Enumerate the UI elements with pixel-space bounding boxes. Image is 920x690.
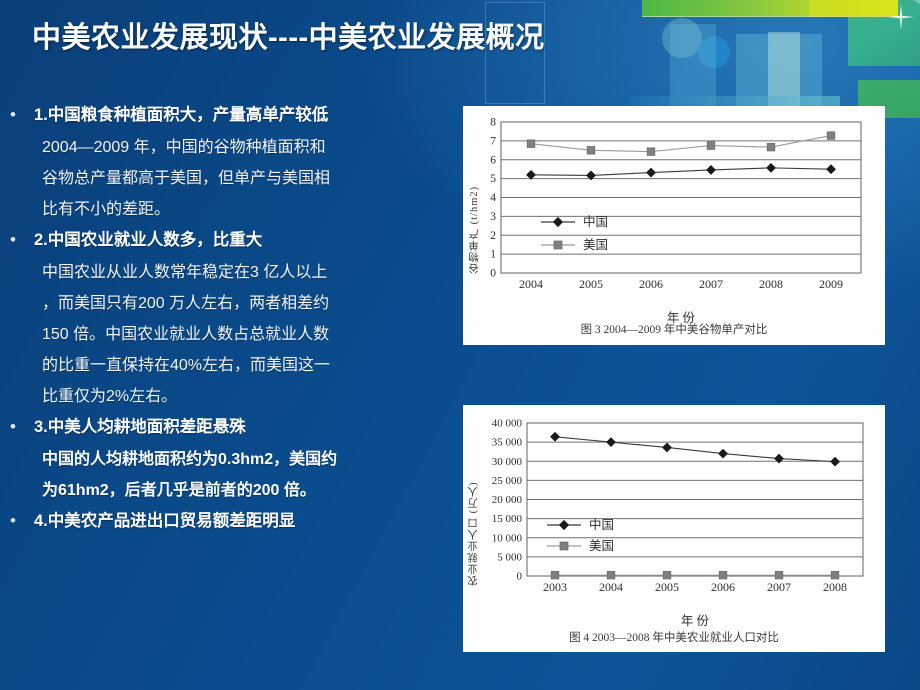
paragraph-line: 中国农业从业人数常年稳定在3 亿人以上 [42, 257, 444, 288]
chart2-caption: 图 4 2003—2008 年中美农业就业人口对比 [463, 629, 885, 645]
svg-text:美国: 美国 [583, 238, 608, 252]
svg-text:1: 1 [490, 249, 496, 261]
bullet-heading: 4.中美农产品进出口贸易额差距明显 [26, 506, 295, 536]
svg-text:2008: 2008 [823, 580, 847, 594]
svg-text:8: 8 [490, 117, 496, 129]
svg-text:2006: 2006 [711, 580, 735, 594]
svg-text:2: 2 [490, 230, 496, 242]
paragraph-line: 谷物总产量都高于美国，但单产与美国相 [42, 163, 444, 194]
bullet-dot-icon: • [0, 100, 26, 130]
bullet-dot-icon: • [0, 225, 26, 255]
paragraph-line: 比重仅为2%左右。 [42, 381, 444, 412]
bullet-heading: 2.中国农业就业人数多，比重大 [26, 225, 262, 255]
bullet-heading: 3.中美人均耕地面积差距悬殊 [26, 412, 246, 442]
bullet-paragraph: 中国农业从业人数常年稳定在3 亿人以上 ，而美国只有200 万人左右，两者相差约… [0, 257, 462, 412]
paragraph-line: 150 倍。中国农业就业人数占总就业人数 [42, 319, 444, 350]
svg-text:2008: 2008 [759, 277, 783, 291]
svg-text:0: 0 [517, 571, 523, 583]
paragraph-line: 比有不小的差距。 [42, 194, 444, 225]
svg-text:25 000: 25 000 [492, 475, 523, 487]
svg-text:0: 0 [490, 268, 496, 280]
bullet-dot-icon: • [0, 506, 26, 536]
svg-text:2007: 2007 [699, 277, 723, 291]
svg-text:40 000: 40 000 [492, 418, 523, 430]
svg-text:美国: 美国 [589, 539, 614, 553]
svg-text:30 000: 30 000 [492, 456, 523, 468]
svg-text:7: 7 [490, 135, 496, 147]
list-item: • 1.中国粮食种植面积大，产量高单产较低 [0, 100, 462, 130]
chart-panel-cereal-yield: 谷物单产 (t/hm2) 012345678200420052006200720… [463, 106, 885, 345]
svg-text:2006: 2006 [639, 277, 663, 291]
svg-text:10 000: 10 000 [492, 532, 523, 544]
slide-header: 中美农业发展现状----中美农业发展概况 [0, 0, 920, 72]
bullet-paragraph: 2004—2009 年，中国的谷物种植面积和 谷物总产量都高于美国，但单产与美国… [0, 132, 462, 225]
bullet-paragraph: 中国的人均耕地面积约为0.3hm2，美国约 为61hm2，后者几乎是前者的200… [0, 444, 462, 506]
list-item: • 2.中国农业就业人数多，比重大 [0, 225, 462, 255]
svg-text:2005: 2005 [655, 580, 679, 594]
paragraph-line: 2004—2009 年，中国的谷物种植面积和 [42, 132, 444, 163]
svg-text:5: 5 [490, 173, 496, 185]
svg-text:3: 3 [490, 211, 496, 223]
svg-text:5 000: 5 000 [497, 551, 522, 563]
list-item: • 4.中美农产品进出口贸易额差距明显 [0, 506, 462, 536]
bullet-content: • 1.中国粮食种植面积大，产量高单产较低 2004—2009 年，中国的谷物种… [0, 100, 462, 670]
svg-text:中国: 中国 [583, 214, 608, 229]
svg-text:中国: 中国 [589, 517, 614, 532]
page-title: 中美农业发展现状----中美农业发展概况 [32, 14, 545, 56]
svg-text:20 000: 20 000 [492, 494, 523, 506]
paragraph-line: 为61hm2，后者几乎是前者的200 倍。 [42, 475, 444, 506]
svg-text:15 000: 15 000 [492, 513, 523, 525]
svg-text:2009: 2009 [819, 277, 843, 291]
chart-panel-agri-employment: 农业就业人口 (万人) 05 00010 00015 00020 00025 0… [463, 405, 885, 652]
paragraph-line: ，而美国只有200 万人左右，两者相差约 [42, 288, 444, 319]
bullet-heading: 1.中国粮食种植面积大，产量高单产较低 [26, 100, 328, 130]
slide: 中美农业发展现状----中美农业发展概况 • 1.中国粮食种植面积大，产量高单产… [0, 0, 920, 690]
svg-text:4: 4 [490, 192, 496, 204]
svg-text:35 000: 35 000 [492, 437, 523, 449]
svg-text:2004: 2004 [519, 277, 543, 291]
svg-text:年 份: 年 份 [681, 614, 710, 628]
chart1-caption: 图 3 2004—2009 年中美谷物单产对比 [463, 321, 885, 337]
svg-text:2005: 2005 [579, 277, 603, 291]
chart2-plot: 05 00010 00015 00020 00025 00030 00035 0… [463, 405, 885, 652]
svg-text:6: 6 [490, 154, 496, 166]
chart1-plot: 012345678200420052006200720082009年 份中国美国 [463, 106, 885, 345]
bullet-dot-icon: • [0, 412, 26, 442]
list-item: • 3.中美人均耕地面积差距悬殊 [0, 412, 462, 442]
paragraph-line: 的比重一直保持在40%左右，而美国这一 [42, 350, 444, 381]
paragraph-line: 中国的人均耕地面积约为0.3hm2，美国约 [42, 444, 444, 475]
svg-text:2004: 2004 [599, 580, 623, 594]
svg-text:2007: 2007 [767, 580, 791, 594]
svg-text:2003: 2003 [543, 580, 567, 594]
